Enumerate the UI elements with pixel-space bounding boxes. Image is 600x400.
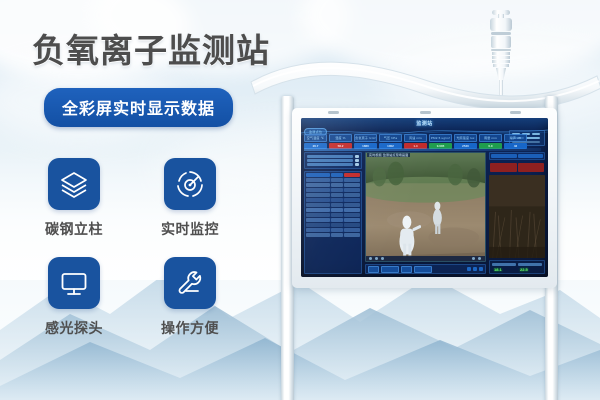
table-cell	[306, 183, 330, 187]
wrench-icon	[164, 257, 216, 309]
feature-row: 碳钢立柱 实时监控	[44, 158, 259, 239]
mount-screw	[328, 111, 339, 114]
table-cell	[331, 193, 344, 197]
feature-grid: 碳钢立柱 实时监控	[44, 158, 259, 356]
table-cell	[331, 218, 344, 222]
table-cell	[306, 208, 330, 212]
feature-row: 感光探头 操作方便	[44, 257, 259, 338]
table-cell	[344, 218, 360, 222]
table-cell	[306, 213, 330, 217]
kpi-label: 湿度 %	[329, 134, 352, 142]
alert-chip[interactable]	[518, 163, 545, 172]
summary-row	[307, 163, 359, 166]
table-cell	[331, 208, 344, 212]
kpi-card: 噪声 dB42	[504, 134, 527, 149]
monitoring-station-illustration: 监测站 监测点位 空气温度 ℃26.7湿度 %58.2负氧离子 /cm³1860…	[245, 44, 600, 400]
readout-label	[492, 263, 516, 266]
table-cell	[331, 198, 344, 202]
table-cell	[344, 233, 360, 237]
table-cell	[331, 223, 344, 227]
table-row[interactable]	[306, 233, 360, 237]
feature-label: 碳钢立柱	[44, 219, 104, 239]
table-cell	[344, 203, 360, 207]
data-log-table[interactable]	[304, 171, 362, 274]
kpi-label: 负氧离子 /cm³	[354, 134, 377, 142]
right-column: 18.1 22.5	[489, 152, 545, 274]
kpi-label: 光照强度 lux	[454, 134, 477, 142]
table-cell	[306, 193, 330, 197]
led-display-cabinet: 监测站 监测点位 空气温度 ℃26.7湿度 %58.2负氧离子 /cm³1860…	[292, 108, 557, 288]
section-divider	[304, 148, 541, 151]
table-cell	[306, 218, 330, 222]
alert-chip[interactable]	[490, 163, 517, 172]
table-cell	[306, 188, 330, 192]
promo-banner: 监测站 监测点位 空气温度 ℃26.7湿度 %58.2负氧离子 /cm³1860…	[0, 0, 600, 400]
table-cell	[344, 193, 360, 197]
toolbar-label	[401, 266, 412, 273]
table-cell	[331, 213, 344, 217]
feature-label: 操作方便	[160, 318, 220, 338]
table-cell	[306, 233, 330, 237]
table-row[interactable]	[306, 198, 360, 202]
live-video-feed[interactable]: 实时视频 监测站点现场画面	[365, 152, 486, 262]
kpi-card: 负氧离子 /cm³1860	[354, 134, 377, 149]
table-row[interactable]	[306, 188, 360, 192]
cabinet-mounts	[292, 111, 557, 117]
dashboard-title: 监测站	[301, 120, 548, 127]
kpi-label: 空气温度 ℃	[304, 134, 327, 142]
readout-label	[518, 263, 542, 266]
feature-label: 实时监控	[160, 219, 220, 239]
kpi-label: PM2.5 ug/m³	[429, 134, 452, 142]
kpi-label: 气压 hPa	[379, 134, 402, 142]
table-cell	[344, 183, 360, 187]
kpi-card: 空气温度 ℃26.7	[304, 134, 327, 149]
monitor-icon	[48, 257, 100, 309]
right-panel-header	[489, 152, 545, 160]
table-row[interactable]	[306, 183, 360, 187]
table-rows	[306, 178, 360, 238]
table-row[interactable]	[306, 193, 360, 197]
video-controls-bar[interactable]	[366, 256, 485, 261]
summary-row	[307, 159, 359, 162]
table-cell	[344, 188, 360, 192]
table-cell	[306, 198, 330, 202]
table-row[interactable]	[306, 223, 360, 227]
table-row[interactable]	[306, 208, 360, 212]
table-cell	[344, 228, 360, 232]
table-row[interactable]	[306, 178, 360, 182]
layers-icon	[48, 158, 100, 210]
table-cell	[306, 228, 330, 232]
table-row[interactable]	[306, 203, 360, 207]
table-header	[306, 173, 360, 177]
feature-item[interactable]: 实时监控	[160, 158, 220, 239]
summary-stats-panel	[304, 152, 362, 169]
table-cell	[344, 213, 360, 217]
kpi-label: 风速 m/s	[404, 134, 427, 142]
left-column	[304, 152, 362, 274]
feature-item[interactable]: 碳钢立柱	[44, 158, 104, 239]
toolbar-label	[368, 266, 379, 273]
readout-value-a: 18.1	[494, 267, 502, 272]
table-cell	[331, 183, 344, 187]
radar-icon	[164, 158, 216, 210]
page-title: 负氧离子监测站	[32, 24, 270, 72]
video-caption: 实时视频 监测站点现场画面	[367, 153, 410, 157]
table-cell	[331, 178, 344, 182]
subtitle-badge: 全彩屏实时显示数据	[44, 88, 233, 127]
kpi-card: 风速 m/s1.4	[404, 134, 427, 149]
mount-screw	[510, 111, 521, 114]
kpi-card: 雨量 mm0.0	[479, 134, 502, 149]
kpi-strip: 空气温度 ℃26.7湿度 %58.2负氧离子 /cm³1860气压 hPa100…	[304, 134, 527, 149]
middle-column: 实时视频 监测站点现场画面	[365, 152, 486, 274]
dashboard-body: 实时视频 监测站点现场画面	[304, 152, 545, 274]
table-cell	[344, 198, 360, 202]
table-row[interactable]	[306, 213, 360, 217]
video-toolbar[interactable]	[365, 264, 486, 274]
readout-value-b: 22.5	[520, 267, 528, 272]
channel-select[interactable]	[414, 266, 432, 273]
table-row[interactable]	[306, 228, 360, 232]
toolbar-buttons[interactable]	[467, 267, 483, 271]
summary-row	[307, 155, 359, 158]
snapshot-readout: 18.1 22.5	[489, 260, 545, 274]
table-cell	[331, 188, 344, 192]
table-cell	[306, 203, 330, 207]
snapshot-image[interactable]	[489, 175, 545, 258]
table-cell	[344, 178, 360, 182]
table-cell	[344, 208, 360, 212]
kpi-label: 雨量 mm	[479, 134, 502, 142]
table-cell	[331, 203, 344, 207]
table-cell	[331, 228, 344, 232]
camera-select[interactable]	[381, 266, 399, 273]
kpi-card: PM2.5 ug/m³0.035	[429, 134, 452, 149]
kpi-label: 噪声 dB	[504, 134, 527, 142]
table-cell	[331, 233, 344, 237]
feature-item[interactable]: 操作方便	[160, 257, 220, 338]
feature-label: 感光探头	[44, 318, 104, 338]
feature-item[interactable]: 感光探头	[44, 257, 104, 338]
mount-screw	[420, 111, 431, 114]
kpi-card: 湿度 %58.2	[329, 134, 352, 149]
table-row[interactable]	[306, 218, 360, 222]
alert-chips[interactable]	[489, 162, 545, 173]
kpi-card: 气压 hPa1002	[379, 134, 402, 149]
table-cell	[306, 178, 330, 182]
table-cell	[306, 223, 330, 227]
kpi-card: 光照强度 lux2540	[454, 134, 477, 149]
dashboard-screen[interactable]: 监测站 监测点位 空气温度 ℃26.7湿度 %58.2负氧离子 /cm³1860…	[301, 118, 548, 277]
table-cell	[344, 223, 360, 227]
